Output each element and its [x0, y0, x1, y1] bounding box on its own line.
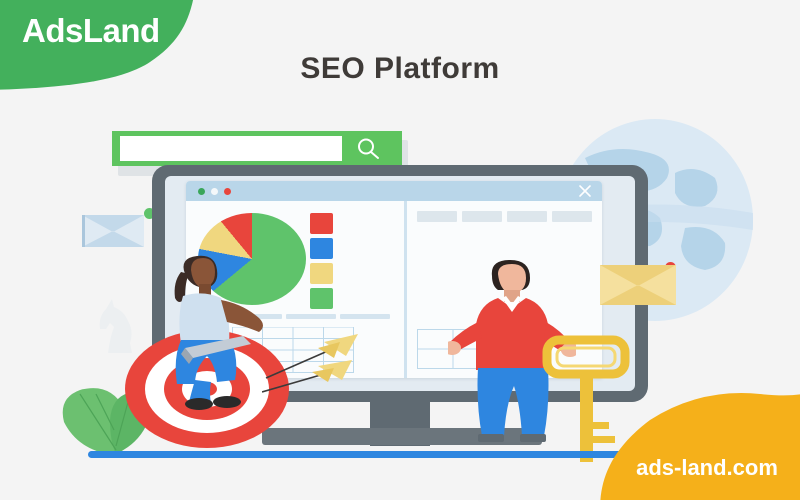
- legend-label-lines: [339, 238, 398, 240]
- legend-item: [310, 238, 398, 259]
- legend-item: [310, 213, 398, 234]
- legend-swatch-red: [310, 213, 333, 234]
- window-dot-white[interactable]: [211, 188, 218, 195]
- search-button[interactable]: [342, 131, 394, 166]
- search-bar[interactable]: [112, 131, 402, 166]
- seo-platform-banner: AdsLand SEO Platform: [0, 0, 800, 500]
- ground-line: [88, 451, 678, 458]
- website-url: ads-land.com: [612, 455, 800, 481]
- legend-swatch-yellow: [310, 263, 333, 284]
- document-header-chips: [417, 211, 592, 222]
- window-dot-green[interactable]: [198, 188, 205, 195]
- legend-item: [310, 288, 398, 309]
- legend-swatch-blue: [310, 238, 333, 259]
- envelope-yellow-icon: [600, 265, 676, 305]
- window-dot-red[interactable]: [224, 188, 231, 195]
- browser-titlebar: [186, 181, 602, 201]
- chart-legend: [310, 213, 398, 313]
- close-icon[interactable]: [578, 184, 592, 198]
- page-title: SEO Platform: [200, 52, 600, 86]
- legend-swatch-green: [310, 288, 333, 309]
- legend-item: [310, 263, 398, 284]
- footer-corner-shape: [600, 380, 800, 500]
- legend-label-lines: [339, 288, 398, 290]
- brand-name: AdsLand: [22, 8, 212, 54]
- legend-label-lines: [339, 213, 398, 215]
- envelope-blue-icon: [82, 215, 144, 247]
- woman-with-laptop: [155, 252, 285, 412]
- search-icon: [355, 136, 381, 162]
- legend-label-lines: [339, 263, 398, 265]
- search-input[interactable]: [120, 136, 342, 161]
